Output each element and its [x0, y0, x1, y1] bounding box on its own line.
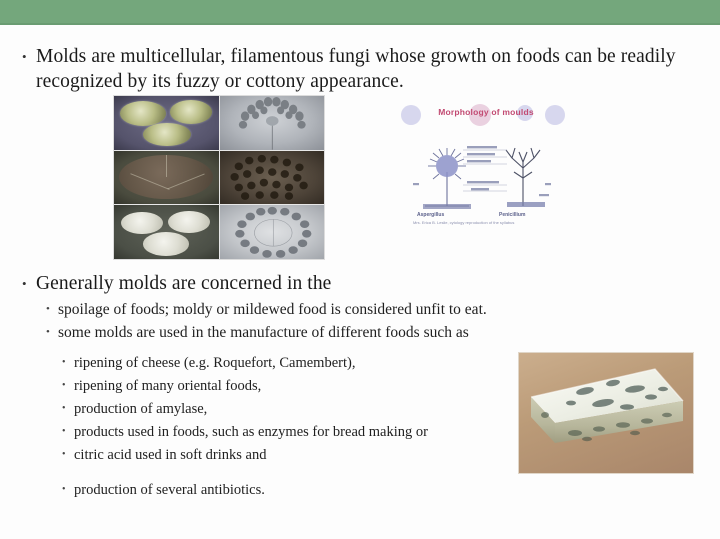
grid-cell-penicillium-colonies-green-plate	[114, 96, 219, 150]
bullet-level3-text: production of several antibiotics.	[74, 480, 265, 501]
bullet-level3-text: production of amylase,	[74, 399, 207, 420]
bullet-level1-molds-definition: • Molds are multicellular, filamentous f…	[22, 44, 692, 94]
blue-veined-cheese-photo	[518, 352, 694, 474]
colony-shape	[120, 101, 166, 126]
slide-header-band	[0, 0, 720, 25]
bullet-glyph-icon: •	[62, 422, 74, 443]
grid-cell-aspergillus-conidiophore-micrograph	[220, 96, 325, 150]
colony-shape	[143, 232, 189, 256]
grid-cell-conidia-ring-micrograph	[220, 205, 325, 259]
bullet-level2-text: spoilage of foods; moldy or mildewed foo…	[58, 299, 487, 320]
conidia-ring-sketch-icon	[220, 205, 325, 259]
bullet-glyph-icon: •	[62, 399, 74, 420]
colony-shape	[168, 211, 210, 234]
bullet-level3-text: citric acid used in soft drinks and	[74, 445, 266, 466]
bullet-glyph-icon: •	[46, 299, 58, 320]
grid-cell-white-fluffy-mold-colonies-plate	[114, 205, 219, 259]
bullet-level2-manufacture: • some molds are used in the manufacture…	[46, 322, 606, 343]
morphology-source-note: Mrs. Erica B. Leslie, cytology reproduct…	[413, 220, 514, 225]
bullet-level3-text: ripening of cheese (e.g. Roquefort, Came…	[74, 353, 355, 374]
morphology-caption-aspergillus: Aspergillus	[417, 212, 444, 218]
bullet-level3-text: products used in foods, such as enzymes …	[74, 422, 428, 443]
morphology-figure-title: Morphology of moulds	[421, 107, 551, 117]
bullet-level3-citric-acid: • citric acid used in soft drinks and	[62, 445, 532, 466]
colony-shape	[143, 123, 191, 147]
sector-divider	[166, 155, 167, 177]
bullet-level3-cheese-ripening: • ripening of cheese (e.g. Roquefort, Ca…	[62, 353, 532, 374]
bullet-level1-text: Generally molds are concerned in the	[36, 271, 522, 296]
bullet-level1-molds-concerned: • Generally molds are concerned in the	[22, 271, 522, 296]
grid-cell-dark-conidia-micrograph	[220, 151, 325, 205]
bullet-level3-oriental-foods: • ripening of many oriental foods,	[62, 376, 532, 397]
bullet-glyph-icon: •	[22, 44, 36, 69]
bullet-level3-text: ripening of many oriental foods,	[74, 376, 261, 397]
conidiophore-sketch-icon	[220, 96, 325, 150]
cheese-wedge-illustration	[527, 367, 685, 451]
mold-colony-and-micrograph-grid	[113, 95, 325, 260]
dense-conidia-sketch-icon	[220, 151, 325, 205]
bullet-glyph-icon: •	[62, 445, 74, 466]
morphology-of-moulds-figure: Morphology of moulds	[399, 104, 571, 228]
bullet-glyph-icon: •	[62, 480, 74, 501]
bullet-level2-text: some molds are used in the manufacture o…	[58, 322, 469, 343]
bullet-level2-spoilage: • spoilage of foods; moldy or mildewed f…	[46, 299, 606, 320]
colony-shape	[170, 100, 212, 124]
bullet-level3-bread-enzymes: • products used in foods, such as enzyme…	[62, 422, 532, 443]
bullet-glyph-icon: •	[46, 322, 58, 343]
decorative-blob-icon	[401, 105, 421, 125]
bullet-level1-text: Molds are multicellular, filamentous fun…	[36, 44, 692, 94]
bullet-glyph-icon: •	[22, 271, 36, 296]
grid-cell-brown-mold-plate-three-sectors	[114, 151, 219, 205]
presentation-slide: • Molds are multicellular, filamentous f…	[0, 0, 720, 539]
bullet-glyph-icon: •	[62, 353, 74, 374]
colony-shape	[121, 212, 163, 235]
morphology-caption-penicillium: Penicillium	[499, 212, 525, 218]
bullet-glyph-icon: •	[62, 376, 74, 397]
bullet-level3-amylase: • production of amylase,	[62, 399, 532, 420]
mould-morphology-drawing	[411, 128, 559, 214]
bullet-level3-antibiotics: • production of several antibiotics.	[62, 480, 532, 501]
